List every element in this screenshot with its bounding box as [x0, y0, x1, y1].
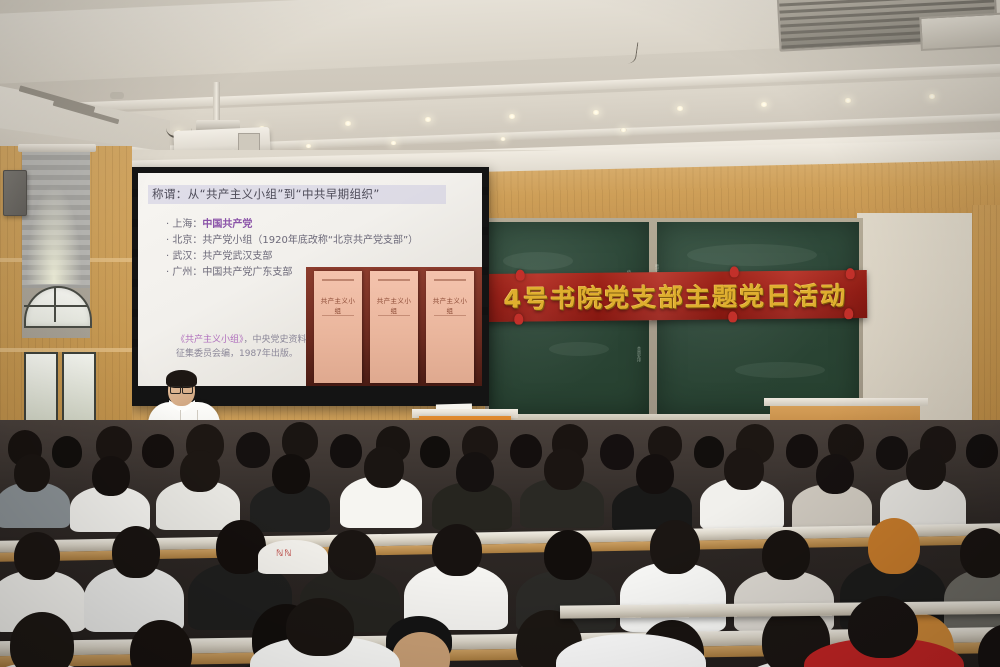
bullet-marker-3: · [166, 251, 169, 262]
downlight-10 [928, 94, 936, 99]
bullet-highlight-1: 中国共产党 [202, 219, 252, 230]
screen-clip-r3 [482, 267, 488, 275]
downlight-12 [620, 128, 627, 132]
book-title-2: 共产主义小组 [374, 295, 414, 315]
screen-clip-l6 [132, 339, 138, 347]
presenter-glasses-right [182, 386, 193, 394]
wall-speaker [3, 170, 27, 216]
slide-bullet-2: · 北京：共产党小组（1920年底改称“北京共产党支部”） [166, 233, 418, 249]
downlight-11 [305, 144, 312, 148]
slide-bullet-1: · 上海：中国共产党 [166, 217, 418, 233]
screen-clip-l4 [132, 279, 138, 287]
downlight-9 [844, 98, 852, 103]
downlight-7 [676, 106, 684, 111]
screen-clip-l5 [132, 309, 138, 317]
window-mullion-h [24, 305, 88, 307]
banner-tie-bottom-left [514, 314, 523, 325]
bullet-text-4: 广州：中国共产党广东支部 [172, 267, 292, 278]
hanging-wire [617, 40, 639, 64]
event-banner: 4号书院党支部主题党日活动 [484, 270, 867, 322]
bullet-text-3: 武汉：共产党武汉支部 [172, 251, 272, 262]
banner-tie-bottom-right [844, 308, 853, 319]
banner-tie-top-right [846, 268, 855, 279]
slide-book-photo: 共产主义小组 共产主义小组 共产主义小组 [306, 267, 482, 386]
lower-window-left [24, 352, 58, 430]
banner-tie-top-mid [730, 266, 739, 277]
slide-bullet-3: · 武汉：共产党武汉支部 [166, 249, 418, 265]
blind-headrail [18, 144, 96, 152]
projection-screen-surface: 称谓：从“共产主义小组”到“中共早期组织” · 上海：中国共产党 · 北京：共产… [138, 173, 482, 386]
lecture-hall-photo: 教学板 值日生名单 本周安排 4号书院党支部主题党日活动 称谓：从“共产主义小组… [0, 0, 1000, 667]
presenter-glasses-left [170, 386, 181, 394]
banner-tie-top-left [516, 270, 525, 281]
book-cover-1: 共产主义小组 [314, 271, 362, 383]
book-cover-2: 共产主义小组 [370, 271, 418, 383]
book-title-1: 共产主义小组 [318, 295, 358, 315]
slide-source-caption: 《共产主义小组》，中央党史资料 征集委员会编，1987年出版。 [176, 333, 426, 361]
banner-text: 4号书院党支部主题党日活动 [504, 276, 848, 316]
caption-book-title: 《共产主义小组》 [176, 335, 244, 345]
lower-window-right [62, 352, 96, 430]
right-wall-wood-edge [972, 205, 1000, 437]
side-desk-top [764, 398, 928, 406]
student-shirt-print: ℕℕ [276, 548, 292, 559]
downlight-5 [508, 114, 516, 119]
smoke-detector [110, 92, 124, 99]
screen-clip-l1 [132, 189, 138, 197]
banner-tie-bottom-mid [728, 311, 737, 322]
screen-clip-l3 [132, 249, 138, 257]
screen-clip-r4 [482, 307, 488, 315]
book-cover-3: 共产主义小组 [426, 271, 474, 383]
downlight-4 [424, 117, 432, 122]
bullet-marker-2: · [166, 235, 169, 246]
screen-clip-r2 [482, 227, 488, 235]
downlight-6 [592, 110, 600, 115]
ceiling-vent-secondary [919, 11, 1000, 51]
book-title-3: 共产主义小组 [430, 295, 470, 315]
screen-clip-l2 [132, 219, 138, 227]
downlight-14 [500, 137, 506, 141]
downlight-13 [390, 141, 397, 145]
presentation-slide: 称谓：从“共产主义小组”到“中共早期组织” · 上海：中国共产党 · 北京：共产… [138, 173, 482, 386]
slide-title: 称谓：从“共产主义小组”到“中共早期组织” [152, 186, 452, 202]
caption-line2: 征集委员会编，1987年出版。 [176, 349, 298, 359]
blind-daylight-glow [26, 184, 82, 284]
chalkboard-writing-2: 本周安排 [637, 346, 642, 406]
audience-seating: ℕℕ [0, 420, 1000, 667]
bullet-marker-4: · [166, 267, 169, 278]
downlight-8 [760, 102, 768, 107]
screen-clip-r1 [482, 187, 488, 195]
caption-line1-rest: ，中央党史资料 [244, 335, 307, 345]
projector-mount-rod [213, 82, 220, 124]
bullet-text-1: 上海： [172, 219, 202, 230]
bullet-text-2: 北京：共产党小组（1920年底改称“北京共产党支部”） [172, 235, 418, 246]
bullet-marker-1: · [166, 219, 169, 230]
downlight-3 [344, 121, 352, 126]
